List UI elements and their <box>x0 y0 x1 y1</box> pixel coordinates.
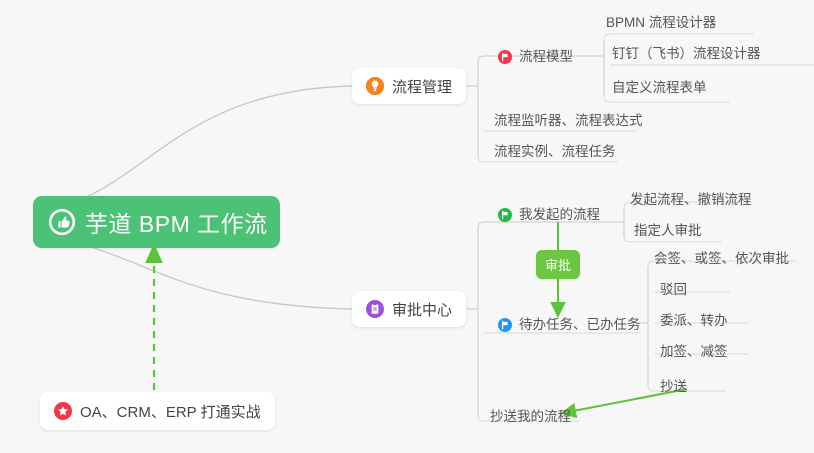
node-assign-approver[interactable]: 指定人审批 <box>628 219 708 243</box>
branch-approval-center[interactable]: 审批中心 <box>352 291 466 327</box>
node-process-instance[interactable]: 流程实例、流程任务 <box>488 140 622 164</box>
node-label: 驳回 <box>660 281 687 298</box>
flag-icon <box>498 50 512 64</box>
node-label: 我发起的流程 <box>519 206 600 223</box>
lightbulb-icon <box>366 77 384 95</box>
approval-annotation-tag[interactable]: 审批 <box>536 250 580 279</box>
node-label: 委派、转办 <box>660 312 728 329</box>
node-process-model[interactable]: 流程模型 <box>492 45 579 69</box>
node-label: 钉钉（飞书）流程设计器 <box>612 45 761 62</box>
bottom-card-label: OA、CRM、ERP 打通实战 <box>80 401 261 422</box>
edge-root-to-process-management <box>33 86 352 210</box>
node-label: 自定义流程表单 <box>612 79 707 96</box>
node-label: 抄送我的流程 <box>490 408 571 425</box>
flag-icon <box>498 208 512 222</box>
node-label: 流程模型 <box>519 48 573 65</box>
bottom-card-oa-crm-erp[interactable]: OA、CRM、ERP 打通实战 <box>40 392 275 430</box>
clipboard-icon <box>366 300 384 318</box>
mindmap-canvas: 芋道 BPM 工作流 流程管理 流程模型 BPMN 流程设计器 钉钉（飞书）流程… <box>0 0 814 453</box>
node-custom-form[interactable]: 自定义流程表单 <box>606 76 713 100</box>
node-label: 发起流程、撤销流程 <box>630 191 752 208</box>
branch-process-management[interactable]: 流程管理 <box>352 68 466 104</box>
node-reject[interactable]: 驳回 <box>654 278 693 302</box>
approval-tag-label: 审批 <box>545 258 571 273</box>
node-label: 会签、或签、依次审批 <box>654 250 789 267</box>
root-node[interactable]: 芋道 BPM 工作流 <box>33 196 280 248</box>
node-start-cancel-process[interactable]: 发起流程、撤销流程 <box>624 188 758 212</box>
node-label: 指定人审批 <box>634 222 702 239</box>
branch-label: 审批中心 <box>392 299 452 320</box>
node-dingtalk-designer[interactable]: 钉钉（飞书）流程设计器 <box>606 42 767 66</box>
node-my-initiated[interactable]: 我发起的流程 <box>492 203 606 227</box>
node-label: 待办任务、已办任务 <box>519 316 641 333</box>
node-process-listener[interactable]: 流程监听器、流程表达式 <box>488 109 649 133</box>
flag-icon <box>498 318 512 332</box>
node-label: BPMN 流程设计器 <box>606 14 716 31</box>
node-label: 流程监听器、流程表达式 <box>494 112 643 129</box>
node-add-remove-sign[interactable]: 加签、减签 <box>654 340 734 364</box>
node-cc-my-process[interactable]: 抄送我的流程 <box>484 405 577 429</box>
node-todo-done-tasks[interactable]: 待办任务、已办任务 <box>492 313 647 337</box>
node-countersign[interactable]: 会签、或签、依次审批 <box>648 247 795 271</box>
node-bpmn-designer[interactable]: BPMN 流程设计器 <box>600 11 722 35</box>
root-label: 芋道 BPM 工作流 <box>85 205 268 239</box>
node-cc[interactable]: 抄送 <box>654 375 693 399</box>
branch-label: 流程管理 <box>392 76 452 97</box>
node-label: 抄送 <box>660 378 687 395</box>
node-delegate-transfer[interactable]: 委派、转办 <box>654 309 734 333</box>
star-icon <box>54 402 72 420</box>
thumbs-up-icon <box>49 209 75 235</box>
node-label: 加签、减签 <box>660 343 728 360</box>
node-label: 流程实例、流程任务 <box>494 143 616 160</box>
